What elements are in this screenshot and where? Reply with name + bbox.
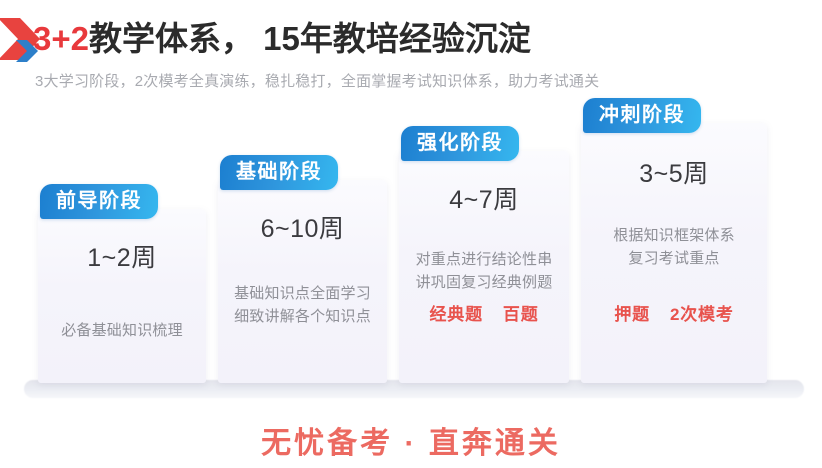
- stage-card-2[interactable]: 6~10周 基础知识点全面学习 细致讲解各个知识点: [218, 180, 387, 383]
- stage-3-tags: 经典题百题: [399, 300, 569, 325]
- header: 3+2教学体系， 15年教培经验沉淀 3大学习阶段，2次模考全真演练，稳扎稳打，…: [0, 0, 822, 108]
- stage-2-desc-line-2: 细致讲解各个知识点: [218, 305, 387, 328]
- stage-4-desc-line-2: 复习考试重点: [581, 247, 767, 270]
- stage-card-3-body: 4~7周 对重点进行结论性串 讲巩固复习经典例题 经典题百题: [399, 151, 569, 383]
- stage-1-description: 必备基础知识梳理: [38, 319, 206, 342]
- page-title: 3+2教学体系， 15年教培经验沉淀: [33, 22, 531, 55]
- stage-3-duration: 4~7周: [399, 180, 569, 216]
- stage-2-desc-line-1: 基础知识点全面学习: [218, 282, 387, 305]
- stage-card-1-body: 1~2周 必备基础知识梳理: [38, 209, 206, 383]
- stage-3-tag-2[interactable]: 百题: [503, 300, 539, 325]
- stage-1-desc-line-1: 必备基础知识梳理: [38, 319, 206, 342]
- stage-3-description: 对重点进行结论性串 讲巩固复习经典例题: [399, 248, 569, 295]
- stage-1-badge[interactable]: 前导阶段: [40, 184, 158, 219]
- stage-4-tag-2[interactable]: 2次模考: [670, 300, 734, 325]
- stage-3-desc-line-1: 对重点进行结论性串: [399, 248, 569, 271]
- stage-4-description: 根据知识框架体系 复习考试重点: [581, 224, 767, 271]
- stage-2-badge[interactable]: 基础阶段: [220, 155, 338, 190]
- stage-4-badge[interactable]: 冲刺阶段: [583, 98, 701, 133]
- stage-4-desc-line-1: 根据知识框架体系: [581, 224, 767, 247]
- stage-cards-area: 1~2周 必备基础知识梳理 前导阶段 6~10周 基础知识点全面学习 细致讲解各…: [0, 108, 822, 398]
- stage-3-tag-1[interactable]: 经典题: [429, 300, 482, 325]
- stage-4-tag-1[interactable]: 押题: [614, 300, 650, 325]
- stage-card-2-body: 6~10周 基础知识点全面学习 细致讲解各个知识点: [218, 180, 387, 383]
- stage-4-duration: 3~5周: [581, 154, 767, 190]
- stage-1-duration: 1~2周: [38, 238, 206, 274]
- title-main-text: 教学体系， 15年教培经验沉淀: [89, 20, 531, 57]
- stage-card-4[interactable]: 3~5周 根据知识框架体系 复习考试重点 押题2次模考: [581, 123, 767, 383]
- promo-graphic-root: 3+2教学体系， 15年教培经验沉淀 3大学习阶段，2次模考全真演练，稳扎稳打，…: [0, 0, 822, 468]
- stage-3-badge[interactable]: 强化阶段: [401, 126, 519, 161]
- stage-4-tags: 押题2次模考: [581, 300, 767, 325]
- footer: 无忧备考 · 直奔通关: [0, 418, 822, 462]
- stage-card-3[interactable]: 4~7周 对重点进行结论性串 讲巩固复习经典例题 经典题百题: [399, 151, 569, 383]
- title-accent-text: 3+2: [33, 20, 89, 57]
- stage-card-1[interactable]: 1~2周 必备基础知识梳理: [38, 209, 206, 383]
- stage-3-desc-line-2: 讲巩固复习经典例题: [399, 271, 569, 294]
- page-subtitle: 3大学习阶段，2次模考全真演练，稳扎稳打，全面掌握考试知识体系，助力考试通关: [35, 70, 599, 91]
- stage-2-duration: 6~10周: [218, 209, 387, 245]
- stage-card-4-body: 3~5周 根据知识框架体系 复习考试重点 押题2次模考: [581, 123, 767, 383]
- footer-slogan: 无忧备考 · 直奔通关: [261, 418, 561, 462]
- stage-2-description: 基础知识点全面学习 细致讲解各个知识点: [218, 282, 387, 329]
